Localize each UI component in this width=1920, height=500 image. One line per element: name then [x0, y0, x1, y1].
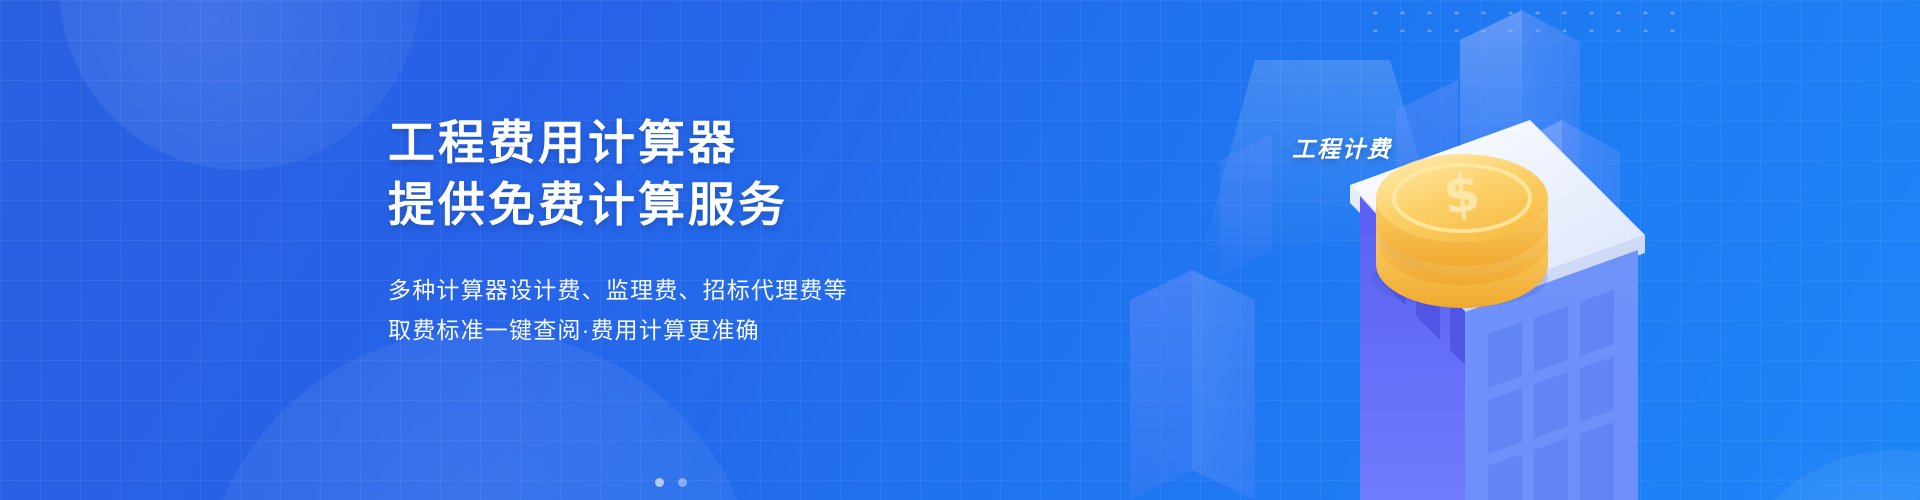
illustration-label: 工程计费 — [1292, 130, 1392, 164]
headline-line-1: 工程费用计算器 — [388, 112, 1008, 174]
carousel-dot-2[interactable] — [678, 478, 687, 487]
carousel-indicators[interactable] — [655, 478, 687, 487]
hero-subtitle: 多种计算器设计费、监理费、招标代理费等 取费标准一键查阅·费用计算更准确 — [388, 270, 1008, 350]
decorative-circle-right — [1725, 450, 1920, 500]
dollar-symbol: $ — [1441, 163, 1483, 226]
subtitle-line-2: 取费标准一键查阅·费用计算更准确 — [388, 310, 1008, 350]
carousel-dot-1[interactable] — [655, 478, 664, 487]
coin-stack: $ — [1372, 154, 1548, 308]
hero-copy: 工程费用计算器 提供免费计算服务 多种计算器设计费、监理费、招标代理费等 取费标… — [388, 112, 1008, 350]
decorative-circle-bottom-left — [200, 330, 760, 500]
hero-illustration: $ 工程计费 — [1060, 0, 1680, 500]
decorative-circle-top-left — [60, 0, 420, 170]
subtitle-line-1: 多种计算器设计费、监理费、招标代理费等 — [388, 270, 1008, 310]
decorative-circle-right-inner — [1710, 448, 1920, 500]
hero-banner: 工程费用计算器 提供免费计算服务 多种计算器设计费、监理费、招标代理费等 取费标… — [0, 0, 1920, 500]
headline-line-2: 提供免费计算服务 — [388, 174, 1008, 236]
